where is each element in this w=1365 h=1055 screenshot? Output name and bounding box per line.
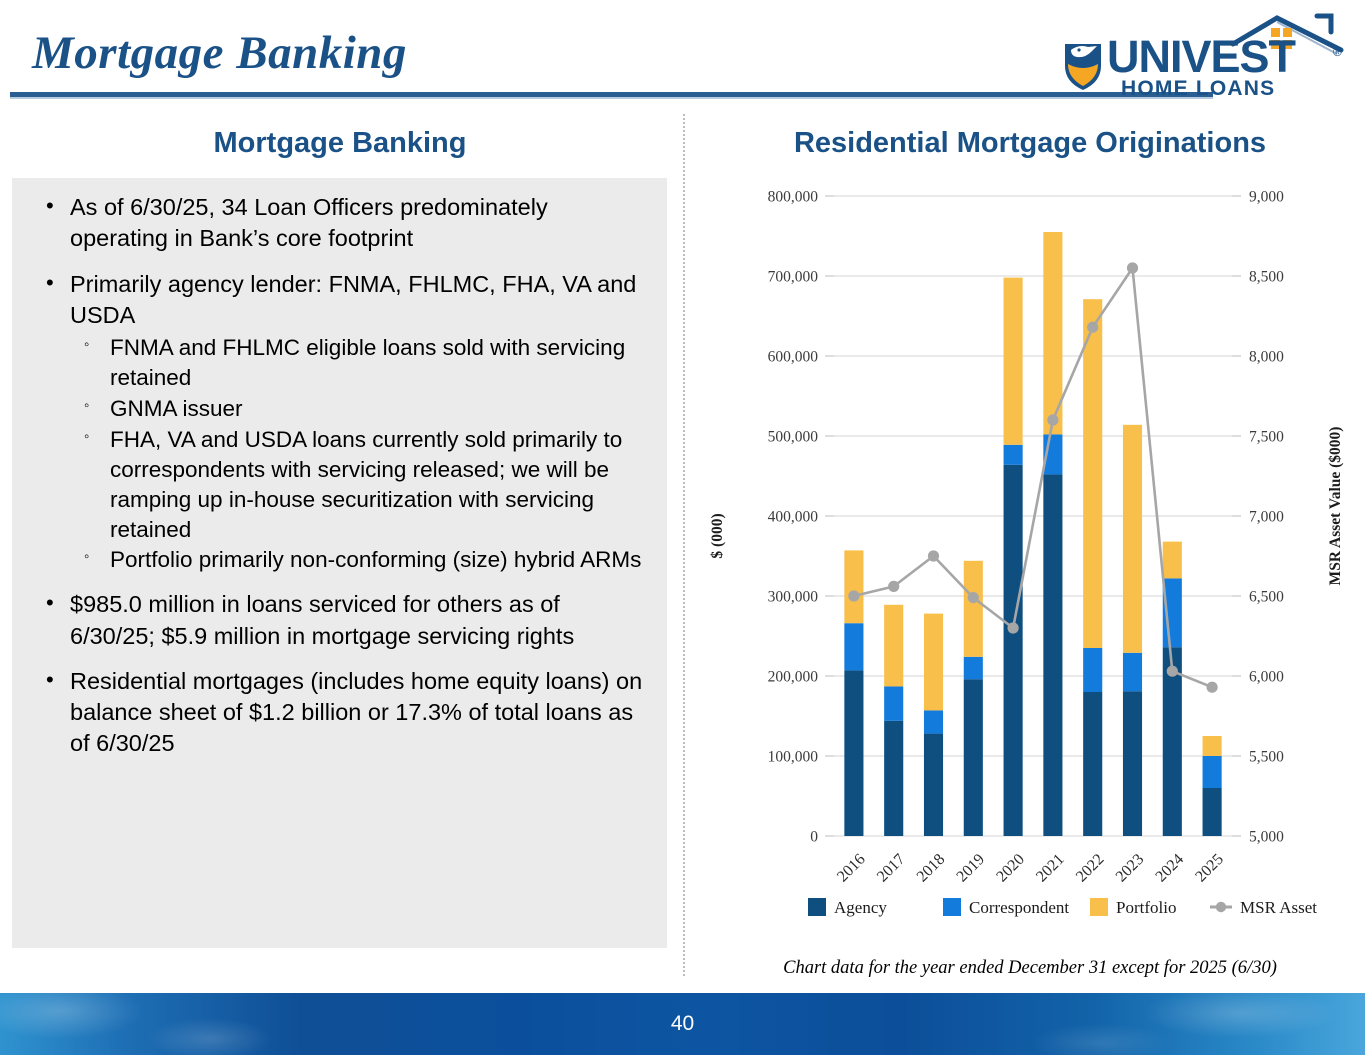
- bar-segment-agency: [884, 721, 903, 836]
- bar-segment-portfolio: [1203, 736, 1222, 756]
- x-tick-label: 2018: [914, 851, 949, 886]
- bar-segment-correspondent: [1203, 756, 1222, 788]
- bar-segment-portfolio: [1004, 278, 1023, 445]
- bar-segment-correspondent: [964, 657, 983, 679]
- bar-segment-agency: [1203, 788, 1222, 836]
- bullet-list: • As of 6/30/25, 34 Loan Officers predom…: [22, 192, 651, 760]
- bar-segment-correspondent: [1004, 445, 1023, 465]
- bar-segment-agency: [924, 734, 943, 836]
- legend-swatch[interactable]: [943, 898, 961, 916]
- list-item: ◦ FHA, VA and USDA loans currently sold …: [70, 425, 651, 545]
- column-divider: [683, 114, 685, 976]
- legend-swatch[interactable]: [808, 898, 826, 916]
- bar-segment-agency: [1083, 692, 1102, 836]
- y2-tick-label: 5,500: [1249, 749, 1284, 766]
- y2-tick-label: 7,500: [1249, 429, 1284, 446]
- y-tick-label: 800,000: [768, 189, 819, 206]
- bar-segment-agency: [1004, 465, 1023, 836]
- y2-tick-label: 9,000: [1249, 189, 1284, 206]
- sub-bullet-text: GNMA issuer: [110, 396, 243, 421]
- bar-segment-correspondent: [844, 623, 863, 670]
- bar-segment-correspondent: [884, 686, 903, 720]
- chart-y2-axis-labels: 5,0005,5006,0006,5007,0007,5008,0008,500…: [1249, 189, 1284, 846]
- y-tick-label: 700,000: [768, 269, 819, 286]
- slide-footer: 40: [0, 993, 1365, 1055]
- msr-asset-point: [848, 590, 859, 601]
- bar-segment-portfolio: [924, 614, 943, 711]
- y-tick-label: 400,000: [768, 509, 819, 526]
- y-tick-label: 100,000: [768, 749, 819, 766]
- chart-bars: [844, 232, 1221, 836]
- msr-asset-line: [854, 268, 1212, 687]
- logo-sub-text: HOME LOANS: [1121, 77, 1275, 100]
- msr-asset-point: [1008, 622, 1019, 633]
- legend-marker: [1216, 902, 1226, 912]
- y-tick-label: 300,000: [768, 589, 819, 606]
- bullet-text: Primarily agency lender: FNMA, FHLMC, FH…: [70, 269, 651, 332]
- sub-bullet-text: FHA, VA and USDA loans currently sold pr…: [110, 427, 622, 542]
- x-tick-label: 2016: [834, 851, 869, 886]
- bar-segment-portfolio: [844, 550, 863, 623]
- bar-segment-portfolio: [1163, 542, 1182, 579]
- y-tick-label: 200,000: [768, 669, 819, 686]
- x-tick-label: 2021: [1033, 851, 1068, 886]
- x-tick-label: 2019: [953, 851, 988, 886]
- bullet-marker: •: [46, 588, 54, 617]
- msr-asset-point: [1167, 666, 1178, 677]
- x-tick-label: 2020: [993, 851, 1028, 886]
- list-item: ◦ GNMA issuer: [70, 394, 651, 424]
- bullet-marker: •: [46, 665, 54, 694]
- msr-asset-point: [1207, 682, 1218, 693]
- y2-tick-label: 7,000: [1249, 509, 1284, 526]
- x-tick-label: 2025: [1192, 851, 1227, 886]
- page-title: Mortgage Banking: [32, 26, 407, 80]
- sub-bullet-list: ◦ FNMA and FHLMC eligible loans sold wit…: [70, 333, 651, 575]
- chart-legend: AgencyCorrespondentPortfolioMSR Asset: [808, 898, 1317, 917]
- bar-segment-agency: [1043, 474, 1062, 836]
- x-tick-label: 2017: [874, 851, 909, 886]
- page-number: 40: [0, 993, 1365, 1055]
- msr-asset-point: [888, 581, 899, 592]
- x-tick-label: 2024: [1152, 851, 1187, 886]
- chart-x-axis-labels: 2016201720182019202020212022202320242025: [834, 851, 1227, 886]
- bar-segment-agency: [1123, 691, 1142, 836]
- left-column-heading: Mortgage Banking: [10, 127, 670, 160]
- bar-segment-correspondent: [1083, 648, 1102, 692]
- x-tick-label: 2022: [1073, 851, 1108, 886]
- residential-mortgage-originations-chart: 0100,000200,000300,000400,000500,000600,…: [700, 176, 1360, 976]
- msr-asset-point: [1127, 262, 1138, 273]
- chart-msr-line: [848, 262, 1217, 692]
- chart-y-axis-title: $ (000): [709, 513, 726, 558]
- list-item: ◦ Portfolio primarily non-conforming (si…: [70, 545, 651, 575]
- y2-tick-label: 5,000: [1249, 829, 1284, 846]
- title-rule-shadow: [10, 97, 1213, 99]
- logo-registered-mark: ®: [1333, 45, 1342, 59]
- y2-tick-label: 8,500: [1249, 269, 1284, 286]
- chart-y2-axis-title: MSR Asset Value ($000): [1327, 427, 1344, 586]
- sub-bullet-marker: ◦: [84, 426, 89, 448]
- univest-home-loans-logo: UNIVEST ® HOME LOANS: [1055, 10, 1355, 102]
- y2-tick-label: 8,000: [1249, 349, 1284, 366]
- msr-asset-point: [1047, 414, 1058, 425]
- bar-segment-correspondent: [924, 710, 943, 733]
- legend-label[interactable]: Portfolio: [1116, 898, 1176, 917]
- y-tick-label: 500,000: [768, 429, 819, 446]
- sub-bullet-marker: ◦: [84, 334, 89, 356]
- shield-eagle-icon: [1065, 44, 1101, 90]
- bullet-marker: •: [46, 268, 54, 297]
- slide: Mortgage Banking UNIVEST: [0, 0, 1365, 1055]
- y2-tick-label: 6,500: [1249, 589, 1284, 606]
- bar-segment-agency: [964, 679, 983, 836]
- bullet-text: As of 6/30/25, 34 Loan Officers predomin…: [70, 192, 651, 255]
- bar-segment-portfolio: [884, 605, 903, 687]
- y-tick-label: 0: [810, 829, 818, 846]
- logo-brand-text: UNIVEST: [1107, 31, 1296, 82]
- x-tick-label: 2023: [1113, 851, 1148, 886]
- sub-bullet-text: Portfolio primarily non-conforming (size…: [110, 547, 641, 572]
- msr-asset-point: [1087, 322, 1098, 333]
- bar-segment-portfolio: [964, 561, 983, 657]
- list-item: • Primarily agency lender: FNMA, FHLMC, …: [22, 269, 651, 576]
- legend-label[interactable]: Correspondent: [969, 898, 1069, 917]
- bullet-text: $985.0 million in loans serviced for oth…: [70, 589, 651, 652]
- legend-label[interactable]: MSR Asset: [1240, 898, 1317, 917]
- y-tick-label: 600,000: [768, 349, 819, 366]
- chart-y-axis-labels: 0100,000200,000300,000400,000500,000600,…: [768, 189, 819, 846]
- chart-title: Residential Mortgage Originations: [700, 127, 1360, 160]
- bar-segment-portfolio: [1123, 425, 1142, 653]
- legend-label[interactable]: Agency: [834, 898, 887, 917]
- legend-swatch[interactable]: [1090, 898, 1108, 916]
- bullet-panel: • As of 6/30/25, 34 Loan Officers predom…: [12, 178, 667, 948]
- chart-footnote: Chart data for the year ended December 3…: [700, 958, 1360, 979]
- bar-segment-portfolio: [1083, 299, 1102, 648]
- list-item: ◦ FNMA and FHLMC eligible loans sold wit…: [70, 333, 651, 393]
- list-item: • Residential mortgages (includes home e…: [22, 666, 651, 760]
- msr-asset-point: [968, 592, 979, 603]
- bullet-marker: •: [46, 191, 54, 220]
- sub-bullet-marker: ◦: [84, 395, 89, 417]
- list-item: • As of 6/30/25, 34 Loan Officers predom…: [22, 192, 651, 255]
- y2-tick-label: 6,000: [1249, 669, 1284, 686]
- sub-bullet-text: FNMA and FHLMC eligible loans sold with …: [110, 335, 625, 390]
- bar-segment-correspondent: [1123, 653, 1142, 691]
- bar-segment-agency: [844, 670, 863, 836]
- sub-bullet-marker: ◦: [84, 546, 89, 568]
- msr-asset-point: [928, 550, 939, 561]
- bullet-text: Residential mortgages (includes home equ…: [70, 666, 651, 760]
- list-item: • $985.0 million in loans serviced for o…: [22, 589, 651, 652]
